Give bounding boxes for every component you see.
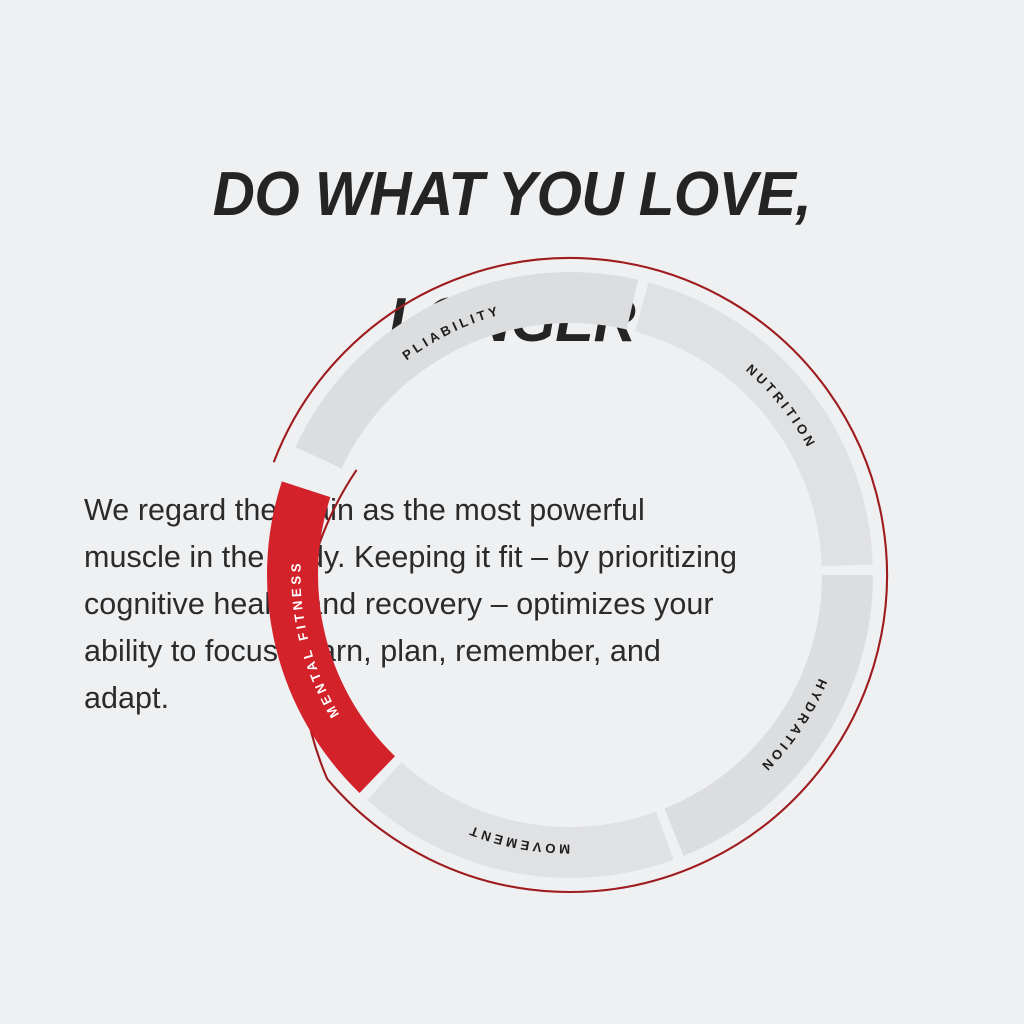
poster-canvas: DO WHAT YOU LOVE, LONGER We regard the b… bbox=[0, 0, 1024, 1024]
ring-segment-mental-fitness[interactable] bbox=[267, 481, 395, 793]
ring-segment-movement[interactable] bbox=[367, 762, 673, 878]
ring-segments-group bbox=[267, 272, 873, 878]
ring-segment-pliability[interactable] bbox=[295, 272, 638, 469]
ring-segment-nutrition[interactable] bbox=[635, 282, 873, 566]
pillars-ring-diagram: PLIABILITYNUTRITIONHYDRATIONMOVEMENTMENT… bbox=[0, 0, 1024, 1024]
ring-segment-hydration[interactable] bbox=[664, 575, 873, 856]
